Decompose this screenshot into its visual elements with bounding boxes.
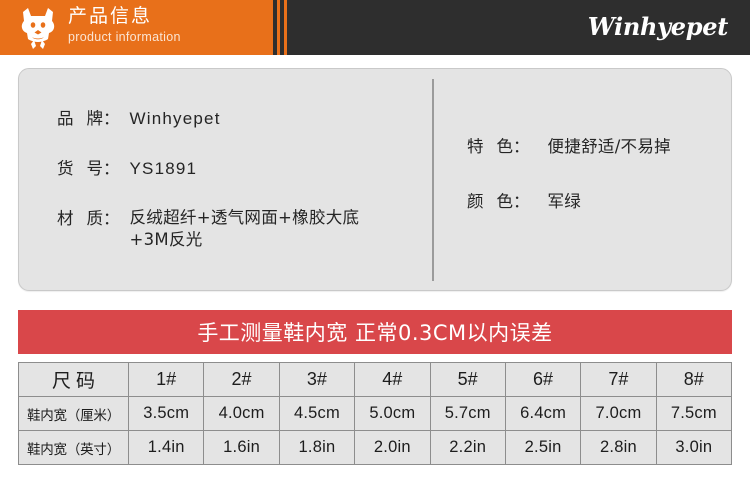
info-value-brand: Winhyepet (120, 107, 418, 130)
page-title-en: product information (68, 29, 268, 46)
header-accent-stripe-2 (284, 0, 287, 55)
size-cell: 3# (279, 363, 354, 397)
size-cell: 6# (505, 363, 580, 397)
size-cell: 4# (355, 363, 430, 397)
info-column-right: 特色： 便捷舒适/不易掉 颜色： 军绿 (467, 135, 717, 213)
size-cell: 5# (430, 363, 505, 397)
info-column-left: 品牌： Winhyepet 货号： YS1891 材质： 反绒超纤+透气网面+橡… (57, 107, 417, 251)
info-row-item-number: 货号： YS1891 (57, 157, 417, 180)
info-panel-divider (432, 79, 434, 281)
width-cm-cell: 6.4cm (505, 397, 580, 431)
header-accent-stripe-1 (277, 0, 280, 55)
page-title-cn: 产品信息 (68, 4, 268, 29)
info-label-material: 材质： (57, 207, 120, 230)
info-value-feature: 便捷舒适/不易掉 (530, 135, 718, 158)
width-cm-cell: 4.5cm (279, 397, 354, 431)
table-row-width-in: 鞋内宽（英寸） 1.4in 1.6in 1.8in 2.0in 2.2in 2.… (19, 431, 732, 465)
size-chart-table: 尺码 1# 2# 3# 4# 5# 6# 7# 8# 鞋内宽（厘米） 3.5cm… (18, 362, 732, 465)
info-label-color: 颜色： (467, 190, 530, 213)
width-in-cell: 1.6in (204, 431, 279, 465)
width-in-cell: 2.8in (581, 431, 656, 465)
info-row-brand: 品牌： Winhyepet (57, 107, 417, 130)
width-in-cell: 1.8in (279, 431, 354, 465)
info-value-material: 反绒超纤+透气网面+橡胶大底+3M反光 (120, 207, 418, 251)
header-title-group: 产品信息 product information (68, 4, 268, 46)
info-label-feature: 特色： (467, 135, 530, 158)
measurement-notice-text: 手工测量鞋内宽 正常0.3CM以内误差 (197, 317, 552, 347)
row-label-width-in: 鞋内宽（英寸） (19, 431, 129, 465)
width-cm-cell: 3.5cm (129, 397, 204, 431)
row-label-size: 尺码 (19, 363, 129, 397)
size-cell: 8# (656, 363, 731, 397)
width-cm-cell: 5.7cm (430, 397, 505, 431)
width-cm-cell: 5.0cm (355, 397, 430, 431)
brand-wordmark: Winhyepet (588, 12, 728, 41)
info-label-brand: 品牌： (57, 107, 120, 130)
width-in-cell: 2.0in (355, 431, 430, 465)
info-row-feature: 特色： 便捷舒适/不易掉 (467, 135, 717, 158)
info-label-item-number: 货号： (57, 157, 120, 180)
size-cell: 7# (581, 363, 656, 397)
size-cell: 1# (129, 363, 204, 397)
bulldog-head-icon (14, 5, 62, 51)
info-row-material: 材质： 反绒超纤+透气网面+橡胶大底+3M反光 (57, 207, 417, 251)
width-in-cell: 2.5in (505, 431, 580, 465)
info-value-color: 军绿 (530, 190, 718, 213)
table-row-sizes: 尺码 1# 2# 3# 4# 5# 6# 7# 8# (19, 363, 732, 397)
info-value-item-number: YS1891 (120, 157, 418, 180)
width-cm-cell: 7.0cm (581, 397, 656, 431)
table-row-width-cm: 鞋内宽（厘米） 3.5cm 4.0cm 4.5cm 5.0cm 5.7cm 6.… (19, 397, 732, 431)
info-row-color: 颜色： 军绿 (467, 190, 717, 213)
width-cm-cell: 4.0cm (204, 397, 279, 431)
width-in-cell: 2.2in (430, 431, 505, 465)
row-label-width-cm: 鞋内宽（厘米） (19, 397, 129, 431)
width-cm-cell: 7.5cm (656, 397, 731, 431)
width-in-cell: 1.4in (129, 431, 204, 465)
page-header: 产品信息 product information Winhyepet (0, 0, 750, 55)
width-in-cell: 3.0in (656, 431, 731, 465)
product-info-panel: 品牌： Winhyepet 货号： YS1891 材质： 反绒超纤+透气网面+橡… (18, 68, 732, 291)
measurement-notice-banner: 手工测量鞋内宽 正常0.3CM以内误差 (18, 310, 732, 354)
size-cell: 2# (204, 363, 279, 397)
